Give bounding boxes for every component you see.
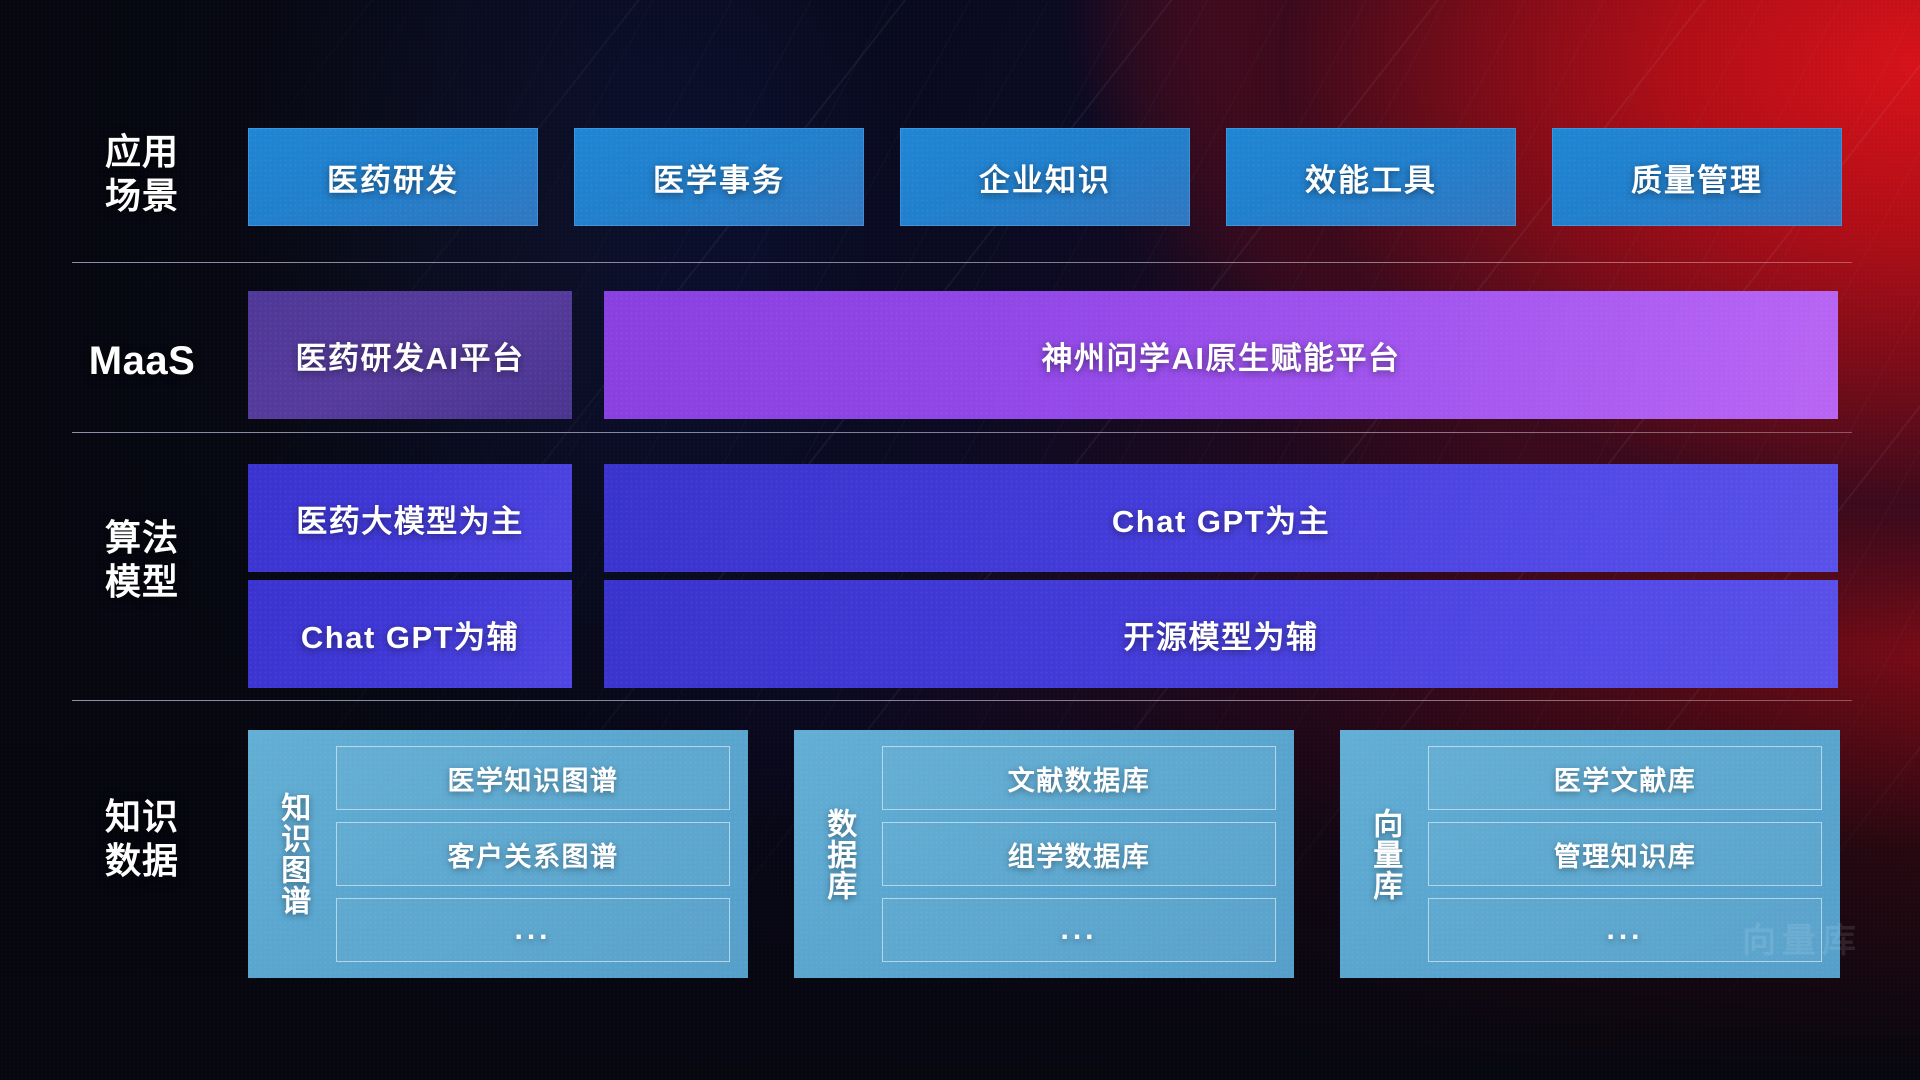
- app-card-medical-affairs[interactable]: 医学事务: [574, 128, 864, 226]
- knowledge-group-title: 知识图谱: [262, 746, 322, 962]
- knowledge-item[interactable]: 医学知识图谱: [336, 746, 730, 810]
- app-card-drug-rd[interactable]: 医药研发: [248, 128, 538, 226]
- algorithm-card-chatgpt-primary[interactable]: Chat GPT为主: [604, 464, 1838, 572]
- app-card-label: 医药研发: [327, 155, 459, 200]
- knowledge-group-graph[interactable]: 知识图谱 医学知识图谱 客户关系图谱 ...: [248, 730, 748, 978]
- knowledge-item[interactable]: 管理知识库: [1428, 822, 1822, 886]
- algorithm-card-chatgpt-secondary[interactable]: Chat GPT为辅: [248, 580, 572, 688]
- app-card-enterprise-knowledge[interactable]: 企业知识: [900, 128, 1190, 226]
- knowledge-item[interactable]: 医学文献库: [1428, 746, 1822, 810]
- architecture-slide: 应用 场景 医药研发 医学事务 企业知识 效能工具 质量管理 MaaS 医药研发…: [0, 0, 1920, 1080]
- divider-maas-algorithm: [72, 432, 1852, 433]
- algorithm-card-label: Chat GPT为主: [1112, 496, 1330, 541]
- knowledge-group-database[interactable]: 数据库 文献数据库 组学数据库 ...: [794, 730, 1294, 978]
- row-label-algorithm: 算法 模型: [62, 516, 222, 604]
- app-card-quality-management[interactable]: 质量管理: [1552, 128, 1842, 226]
- app-card-efficiency-tools[interactable]: 效能工具: [1226, 128, 1516, 226]
- row-label-knowledge: 知识 数据: [62, 795, 222, 883]
- knowledge-item[interactable]: 文献数据库: [882, 746, 1276, 810]
- knowledge-item[interactable]: 客户关系图谱: [336, 822, 730, 886]
- knowledge-group-items: 文献数据库 组学数据库 ...: [882, 746, 1276, 962]
- knowledge-item-more[interactable]: ...: [882, 898, 1276, 962]
- app-card-label: 医学事务: [653, 155, 785, 200]
- algorithm-card-opensource-secondary[interactable]: 开源模型为辅: [604, 580, 1838, 688]
- algorithm-card-label: 开源模型为辅: [1124, 612, 1319, 657]
- app-card-label: 效能工具: [1305, 155, 1437, 200]
- row-label-maas: MaaS: [62, 337, 222, 386]
- maas-card-shenzhou-wenxue-platform[interactable]: 神州问学AI原生赋能平台: [604, 291, 1838, 419]
- divider-algorithm-knowledge: [72, 700, 1852, 701]
- maas-card-drug-rd-ai-platform[interactable]: 医药研发AI平台: [248, 291, 572, 419]
- row-label-application: 应用 场景: [62, 130, 222, 218]
- maas-card-label: 神州问学AI原生赋能平台: [1042, 333, 1401, 378]
- knowledge-group-items: 医学知识图谱 客户关系图谱 ...: [336, 746, 730, 962]
- app-card-label: 企业知识: [979, 155, 1111, 200]
- knowledge-item-more[interactable]: ...: [336, 898, 730, 962]
- algorithm-card-label: 医药大模型为主: [296, 496, 524, 541]
- knowledge-item[interactable]: 组学数据库: [882, 822, 1276, 886]
- knowledge-group-title: 向量库: [1354, 746, 1414, 962]
- knowledge-group-title: 数据库: [808, 746, 868, 962]
- algorithm-card-pharma-llm-primary[interactable]: 医药大模型为主: [248, 464, 572, 572]
- knowledge-item-more[interactable]: ...: [1428, 898, 1822, 962]
- knowledge-group-vector-store[interactable]: 向量库 医学文献库 管理知识库 ...: [1340, 730, 1840, 978]
- knowledge-group-items: 医学文献库 管理知识库 ...: [1428, 746, 1822, 962]
- maas-card-label: 医药研发AI平台: [296, 333, 525, 378]
- app-card-label: 质量管理: [1631, 155, 1763, 200]
- divider-application-maas: [72, 262, 1852, 263]
- algorithm-card-label: Chat GPT为辅: [301, 612, 519, 657]
